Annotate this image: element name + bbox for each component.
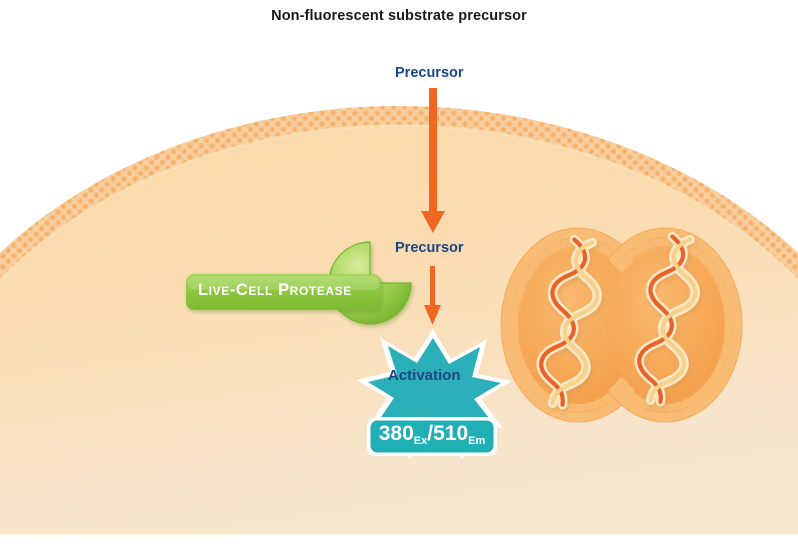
excitation-subscript: Ex	[414, 435, 427, 447]
emission-value: 510	[433, 422, 468, 445]
page-title: Non-fluorescent substrate precursor	[0, 8, 798, 24]
cell-diagram-illustration	[0, 0, 798, 551]
label-wavelengths: 380Ex/510Em	[376, 423, 488, 444]
label-precursor-extracellular: Precursor	[395, 65, 464, 81]
label-activation: Activation	[388, 367, 461, 384]
diagram-canvas: Non-fluorescent substrate precursor Prec…	[0, 0, 798, 551]
emission-subscript: Em	[468, 435, 485, 447]
excitation-value: 380	[379, 422, 414, 445]
label-precursor-intracellular: Precursor	[395, 240, 464, 256]
label-live-cell-protease: Live-Cell Protease	[198, 281, 352, 300]
